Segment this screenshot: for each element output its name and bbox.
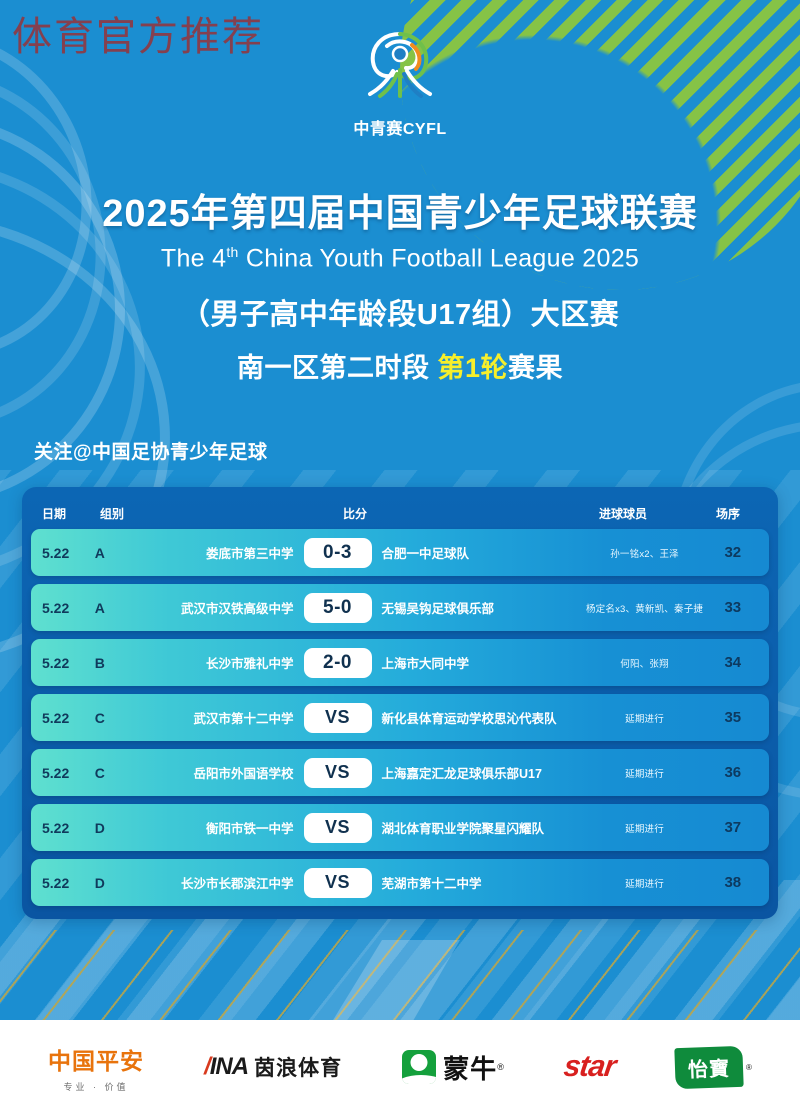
cell-scorers: 延期进行: [582, 766, 708, 780]
sponsor-ina-name: 茵浪体育: [254, 1052, 342, 1082]
cell-match-no: 34: [708, 654, 758, 671]
sponsor-pingan[interactable]: 中国平安 专业 · 价值: [48, 1042, 144, 1093]
cell-match: 武汉市第十二中学VS新化县体育运动学校思沁代表队: [144, 703, 582, 733]
sponsor-star-name: star: [562, 1050, 618, 1084]
cell-score-pill: 5-0: [304, 593, 372, 623]
sponsor-pingan-tagline: 专业 · 价值: [64, 1080, 129, 1093]
cell-date: 5.22: [42, 600, 91, 616]
title-en-ordinal: th: [226, 244, 238, 260]
cell-scorers: 孙一铭x2、王泽: [582, 546, 708, 560]
cell-away-team: 无锡吴钩足球俱乐部: [372, 598, 582, 617]
cell-away-team: 上海嘉定汇龙足球俱乐部U17: [372, 763, 582, 782]
cell-scorers: 延期进行: [582, 821, 708, 835]
sponsor-yibao-trademark: ®: [746, 1063, 752, 1072]
age-group-subtitle: （男子高中年龄段U17组）大区赛: [0, 291, 800, 333]
cell-home-team: 长沙市长郡滨江中学: [144, 873, 304, 892]
cell-group: B: [91, 655, 144, 671]
cell-date: 5.22: [42, 655, 91, 671]
cell-away-team: 合肥一中足球队: [372, 543, 582, 562]
cell-home-team: 娄底市第三中学: [144, 543, 304, 562]
round-highlight: 第1轮: [437, 353, 508, 383]
cell-date: 5.22: [42, 875, 91, 891]
cell-match: 衡阳市铁一中学VS湖北体育职业学院聚星闪耀队: [144, 813, 582, 843]
ina-letters: INA: [210, 1053, 248, 1080]
column-header-scorers: 进球球员: [548, 505, 698, 522]
cell-match-no: 38: [708, 874, 758, 891]
cell-match-no: 32: [708, 544, 758, 561]
cell-group: A: [91, 600, 144, 616]
cell-home-team: 岳阳市外国语学校: [144, 763, 304, 782]
cell-match: 武汉市汉铁高级中学5-0无锡吴钩足球俱乐部: [144, 593, 582, 623]
round-prefix: 南一区第二时段: [237, 353, 438, 383]
mengniu-logo-icon: [402, 1050, 436, 1084]
table-row: 5.22A武汉市汉铁高级中学5-0无锡吴钩足球俱乐部杨定名x3、黄新凯、秦子捷3…: [31, 584, 769, 631]
cell-date: 5.22: [42, 710, 91, 726]
column-header-score: 比分: [162, 505, 548, 522]
sponsor-yibao[interactable]: 怡寶 ®: [675, 1047, 752, 1088]
cell-date: 5.22: [42, 545, 91, 561]
cell-group: D: [91, 820, 144, 836]
cell-home-team: 长沙市雅礼中学: [144, 653, 304, 672]
cell-scorers: 何阳、张翔: [582, 656, 708, 670]
cell-group: A: [91, 545, 144, 561]
cell-away-team: 新化县体育运动学校思沁代表队: [372, 708, 582, 727]
cell-group: C: [91, 765, 144, 781]
follow-account-text: 关注@中国足协青少年足球: [34, 437, 268, 464]
cell-scorers: 延期进行: [582, 876, 708, 890]
sponsor-footer: 中国平安 专业 · 价值 /INA 茵浪体育 蒙牛® star 怡寶 ®: [0, 1020, 800, 1114]
table-row: 5.22D长沙市长郡滨江中学VS芜湖市第十二中学延期进行38: [31, 859, 769, 906]
title-en-post: China Youth Football League 2025: [239, 244, 640, 272]
table-body: 5.22A娄底市第三中学0-3合肥一中足球队孙一铭x2、王泽325.22A武汉市…: [31, 529, 769, 906]
sponsor-yibao-name: 怡寶: [688, 1058, 731, 1081]
table-row: 5.22C岳阳市外国语学校VS上海嘉定汇龙足球俱乐部U17延期进行36: [31, 749, 769, 796]
cell-date: 5.22: [42, 820, 91, 836]
sponsor-ina[interactable]: /INA 茵浪体育: [204, 1052, 342, 1082]
table-row: 5.22C武汉市第十二中学VS新化县体育运动学校思沁代表队延期进行35: [31, 694, 769, 741]
cell-away-team: 湖北体育职业学院聚星闪耀队: [372, 818, 582, 837]
cell-score-pill: VS: [304, 703, 372, 733]
cell-match-no: 33: [708, 599, 758, 616]
cell-match-no: 36: [708, 764, 758, 781]
round-suffix: 赛果: [508, 353, 563, 383]
cell-away-team: 芜湖市第十二中学: [372, 873, 582, 892]
cell-match-no: 35: [708, 709, 758, 726]
cell-scorers: 延期进行: [582, 711, 708, 725]
cell-match-no: 37: [708, 819, 758, 836]
logo-caption: 中青赛CYFL: [0, 115, 800, 139]
cell-score-pill: VS: [304, 868, 372, 898]
sponsor-mengniu-trademark: ®: [497, 1062, 504, 1072]
cyfl-logo-icon: [357, 95, 443, 112]
round-subtitle: 南一区第二时段 第1轮赛果: [0, 346, 800, 385]
table-header-row: 日期 组别 比分 进球球员 场序: [31, 497, 769, 529]
cell-score-pill: 2-0: [304, 648, 372, 678]
column-header-date: 日期: [42, 505, 100, 522]
table-row: 5.22B长沙市雅礼中学2-0上海市大同中学何阳、张翔34: [31, 639, 769, 686]
sponsor-mengniu-name: 蒙牛: [443, 1049, 497, 1086]
table-row: 5.22D衡阳市铁一中学VS湖北体育职业学院聚星闪耀队延期进行37: [31, 804, 769, 851]
cell-group: C: [91, 710, 144, 726]
sponsor-pingan-name: 中国平安: [48, 1042, 144, 1076]
column-header-match-no: 场序: [698, 505, 758, 522]
sponsor-ina-mark: /INA: [204, 1053, 248, 1081]
cell-home-team: 武汉市第十二中学: [144, 708, 304, 727]
page-title-english: The 4th China Youth Football League 2025: [0, 244, 800, 273]
sponsor-mengniu[interactable]: 蒙牛®: [402, 1049, 504, 1086]
column-header-group: 组别: [100, 505, 162, 522]
cell-match: 娄底市第三中学0-3合肥一中足球队: [144, 538, 582, 568]
results-table-panel: 日期 组别 比分 进球球员 场序 5.22A娄底市第三中学0-3合肥一中足球队孙…: [22, 487, 778, 919]
page-title: 2025年第四届中国青少年足球联赛: [0, 182, 800, 237]
cell-score-pill: 0-3: [304, 538, 372, 568]
cell-date: 5.22: [42, 765, 91, 781]
title-en-pre: The 4: [161, 244, 226, 272]
title-block: 2025年第四届中国青少年足球联赛 The 4th China Youth Fo…: [0, 182, 800, 385]
cell-match: 岳阳市外国语学校VS上海嘉定汇龙足球俱乐部U17: [144, 758, 582, 788]
cell-match: 长沙市长郡滨江中学VS芜湖市第十二中学: [144, 868, 582, 898]
cell-group: D: [91, 875, 144, 891]
yibao-flag-icon: 怡寶: [674, 1045, 743, 1088]
cell-home-team: 武汉市汉铁高级中学: [144, 598, 304, 617]
cell-score-pill: VS: [304, 813, 372, 843]
watermark-text: 体育官方推荐: [12, 4, 264, 62]
table-row: 5.22A娄底市第三中学0-3合肥一中足球队孙一铭x2、王泽32: [31, 529, 769, 576]
cell-scorers: 杨定名x3、黄新凯、秦子捷: [582, 601, 708, 615]
cell-match: 长沙市雅礼中学2-0上海市大同中学: [144, 648, 582, 678]
cell-away-team: 上海市大同中学: [372, 653, 582, 672]
cell-score-pill: VS: [304, 758, 372, 788]
sponsor-star[interactable]: star: [564, 1050, 615, 1084]
cell-home-team: 衡阳市铁一中学: [144, 818, 304, 837]
